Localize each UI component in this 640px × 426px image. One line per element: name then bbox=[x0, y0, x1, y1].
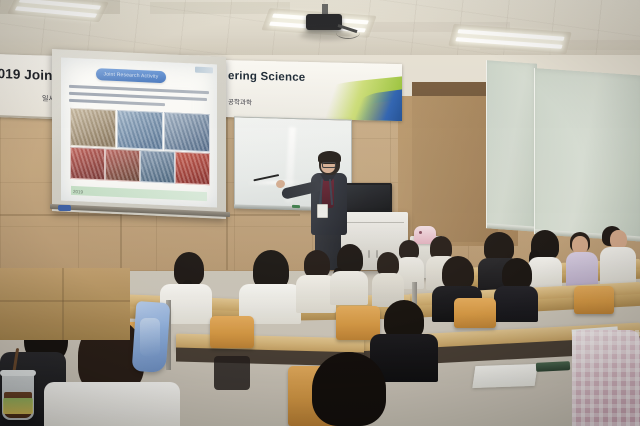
slide-body-line bbox=[69, 99, 165, 106]
slide-photo bbox=[70, 147, 105, 181]
audience-member bbox=[372, 252, 406, 306]
presenter-name-badge bbox=[317, 204, 328, 218]
slide-title: Joint Research Activity bbox=[96, 68, 166, 83]
slide-photo bbox=[117, 110, 163, 150]
projector-shadow bbox=[300, 30, 352, 40]
slide-photo bbox=[175, 152, 210, 186]
chair[interactable] bbox=[210, 316, 254, 348]
wall-seam bbox=[0, 300, 130, 302]
slide-footer-bar bbox=[71, 186, 207, 201]
slide-footer-label: 2019 bbox=[73, 189, 83, 194]
slide-title-bar: Joint Research Activity bbox=[96, 68, 166, 83]
glasses-icon bbox=[322, 162, 336, 168]
presentation-slide: Joint Research Activity 2019 bbox=[61, 57, 217, 207]
hair bbox=[442, 256, 474, 290]
paper-stack bbox=[472, 364, 537, 388]
ledge-object bbox=[58, 205, 71, 211]
audience-member bbox=[566, 232, 600, 286]
audience-member-foreground bbox=[572, 330, 640, 426]
chair[interactable] bbox=[454, 298, 496, 328]
slide-logo bbox=[195, 67, 213, 74]
slide-photo bbox=[140, 150, 175, 184]
slide-photo bbox=[70, 108, 116, 148]
chair[interactable] bbox=[574, 286, 614, 314]
hair bbox=[304, 250, 330, 278]
wall-seam bbox=[62, 268, 64, 340]
slide-photo bbox=[105, 148, 140, 182]
audience-member bbox=[598, 226, 638, 284]
smartphone bbox=[536, 361, 570, 372]
torso bbox=[566, 252, 598, 288]
lecture-hall-photo: 2019 Joint 일시 ering Science 공학과학 Joint R… bbox=[0, 0, 640, 426]
cup-lid bbox=[0, 370, 36, 376]
banner-right-title: ering Science bbox=[228, 70, 305, 84]
torso bbox=[44, 382, 180, 426]
denim-jacket-fold bbox=[140, 318, 160, 356]
audience-member bbox=[330, 244, 370, 304]
hair bbox=[312, 352, 386, 426]
wall-seam bbox=[226, 100, 228, 270]
window-blind-right[interactable] bbox=[534, 68, 640, 242]
projection-screen: Joint Research Activity 2019 bbox=[52, 49, 226, 219]
torso bbox=[600, 247, 636, 285]
torso bbox=[494, 286, 538, 322]
projector-icon bbox=[306, 14, 342, 30]
audience-member bbox=[494, 258, 540, 320]
window-blind-left[interactable] bbox=[486, 60, 537, 232]
dark-bag bbox=[214, 356, 250, 390]
banner-right: ering Science 공학과학 bbox=[216, 60, 402, 121]
banner-right-subtitle: 공학과학 bbox=[228, 96, 252, 107]
cup-label bbox=[3, 398, 33, 414]
audience-member-foreground bbox=[290, 352, 406, 426]
left-wall-base bbox=[0, 268, 130, 340]
shirt-pattern bbox=[572, 330, 640, 426]
torso bbox=[330, 271, 368, 305]
slide-photo bbox=[164, 112, 210, 152]
bag-detail bbox=[419, 231, 422, 234]
audience-member bbox=[235, 250, 305, 322]
